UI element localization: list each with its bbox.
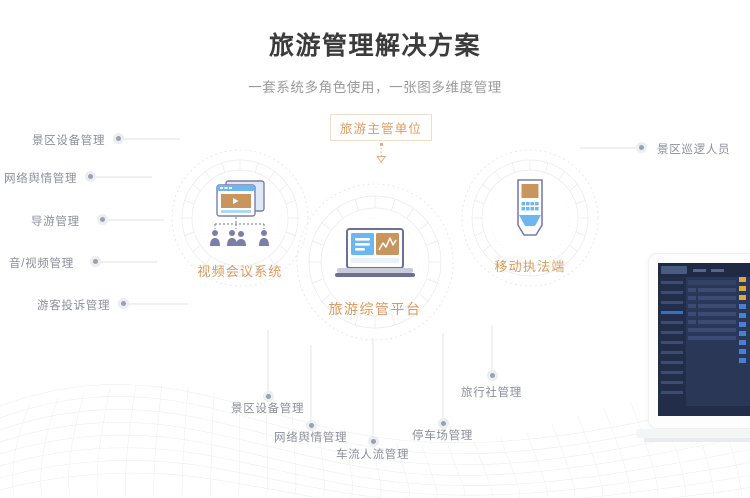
dashboard-menu-item[interactable] — [693, 269, 706, 272]
dashboard-icon-chip[interactable] — [739, 295, 746, 300]
node-label-mobile-enforcement: 移动执法端 — [485, 256, 575, 275]
dashboard-footer — [658, 406, 750, 416]
dashboard-sidebar-item[interactable] — [661, 371, 683, 374]
connector-dot — [487, 370, 498, 381]
laptop-base-shadow — [644, 438, 750, 442]
dashboard-top-menu — [693, 269, 724, 272]
dashboard-icon-chip[interactable] — [739, 349, 746, 354]
connector-dot — [90, 256, 101, 267]
dashboard-sidebar-item[interactable] — [661, 361, 683, 364]
dashboard-icon-chip[interactable] — [739, 277, 746, 282]
background-mesh-decoration — [0, 348, 750, 498]
dashboard-topbar — [658, 263, 750, 277]
dashboard-screen — [658, 263, 750, 416]
laptop-frame — [648, 253, 750, 429]
authority-box[interactable]: 旅游主管单位 — [330, 114, 432, 141]
node-label-tourism-platform: 旅游综管平台 — [325, 299, 425, 319]
dashboard-tree-row[interactable] — [688, 328, 736, 332]
connector-dot — [85, 171, 96, 182]
authority-label: 旅游主管单位 — [340, 118, 422, 137]
left-label-av-management[interactable]: 音/视频管理 — [9, 255, 74, 271]
dashboard-tree-row[interactable] — [688, 304, 736, 308]
dashboard-tree-row[interactable] — [688, 288, 736, 292]
dashboard-icon-chip[interactable] — [739, 286, 746, 291]
dashboard-icon-chip[interactable] — [739, 331, 746, 336]
connector-dot — [97, 214, 108, 225]
dashboard-sidebar-item[interactable] — [661, 341, 683, 344]
dashboard-tree-row[interactable] — [688, 312, 736, 316]
dashboard-logo — [661, 266, 687, 274]
laptop-base — [636, 429, 750, 438]
dashboard-menu-item[interactable] — [711, 269, 724, 272]
dashboard-tree-row[interactable] — [688, 320, 736, 324]
dashboard-sidebar-item[interactable] — [661, 331, 683, 334]
dashboard-icon-chip[interactable] — [739, 322, 746, 327]
dashboard-sidebar — [658, 277, 686, 406]
connector-dot — [118, 298, 129, 309]
dashboard-sidebar-item[interactable] — [661, 281, 683, 284]
dashboard-icon-chip[interactable] — [739, 313, 746, 318]
connector-dot — [113, 133, 124, 144]
page-subtitle: 一套系统多角色使用，一张图多维度管理 — [0, 76, 750, 96]
dashboard-icon-chip[interactable] — [739, 358, 746, 363]
page-header: 旅游管理解决方案 一套系统多角色使用，一张图多维度管理 — [0, 0, 750, 96]
laptop-dashboard-icon — [325, 226, 425, 293]
bottom-label-scenic-equipment[interactable]: 景区设备管理 — [231, 400, 304, 416]
node-video-conference[interactable]: 视频会议系统 — [190, 176, 290, 280]
left-label-tourist-complaints[interactable]: 游客投诉管理 — [37, 297, 110, 313]
left-label-network-sentiment[interactable]: 网络舆情管理 — [4, 170, 77, 186]
dotted-down-arrow-icon — [374, 143, 388, 165]
dashboard-tree-row[interactable] — [688, 336, 736, 340]
mobile-device-icon — [485, 177, 575, 250]
node-tourism-platform[interactable]: 旅游综管平台 — [325, 226, 425, 319]
bottom-label-parking[interactable]: 停车场管理 — [412, 427, 473, 443]
right-label-patrol-staff[interactable]: 景区巡逻人员 — [657, 141, 730, 157]
dashboard-sidebar-item[interactable] — [661, 301, 683, 304]
dashboard-sidebar-item[interactable] — [661, 321, 683, 324]
dashboard-sidebar-item[interactable] — [661, 291, 683, 294]
tourism-dashboard-preview[interactable] — [648, 253, 750, 429]
video-conference-icon — [190, 176, 290, 255]
solution-diagram-page: 旅游管理解决方案 一套系统多角色使用，一张图多维度管理 — [0, 0, 750, 498]
dashboard-sidebar-item[interactable] — [661, 391, 683, 394]
left-label-guide-management[interactable]: 导游管理 — [31, 213, 80, 229]
dashboard-icon-chip[interactable] — [739, 304, 746, 309]
node-mobile-enforcement[interactable]: 移动执法端 — [485, 177, 575, 275]
dashboard-icon-column — [738, 277, 750, 406]
dashboard-sidebar-item[interactable] — [661, 351, 683, 354]
dashboard-sidebar-item-selected[interactable] — [661, 311, 683, 314]
dashboard-tree-row[interactable] — [688, 296, 736, 300]
connector-dot — [636, 142, 647, 153]
dashboard-toolbar — [688, 280, 736, 285]
node-label-video-conference: 视频会议系统 — [190, 261, 290, 280]
bottom-label-travel-agency[interactable]: 旅行社管理 — [461, 384, 522, 400]
left-label-scenic-equipment[interactable]: 景区设备管理 — [32, 132, 105, 148]
dashboard-main-panel — [686, 277, 738, 406]
dashboard-icon-chip[interactable] — [739, 340, 746, 345]
dashboard-body — [658, 277, 750, 406]
dashboard-sidebar-item[interactable] — [661, 381, 683, 384]
bottom-label-traffic-flow[interactable]: 车流人流管理 — [336, 446, 409, 462]
bottom-label-network-sentiment[interactable]: 网络舆情管理 — [274, 429, 347, 445]
page-title: 旅游管理解决方案 — [0, 26, 750, 62]
